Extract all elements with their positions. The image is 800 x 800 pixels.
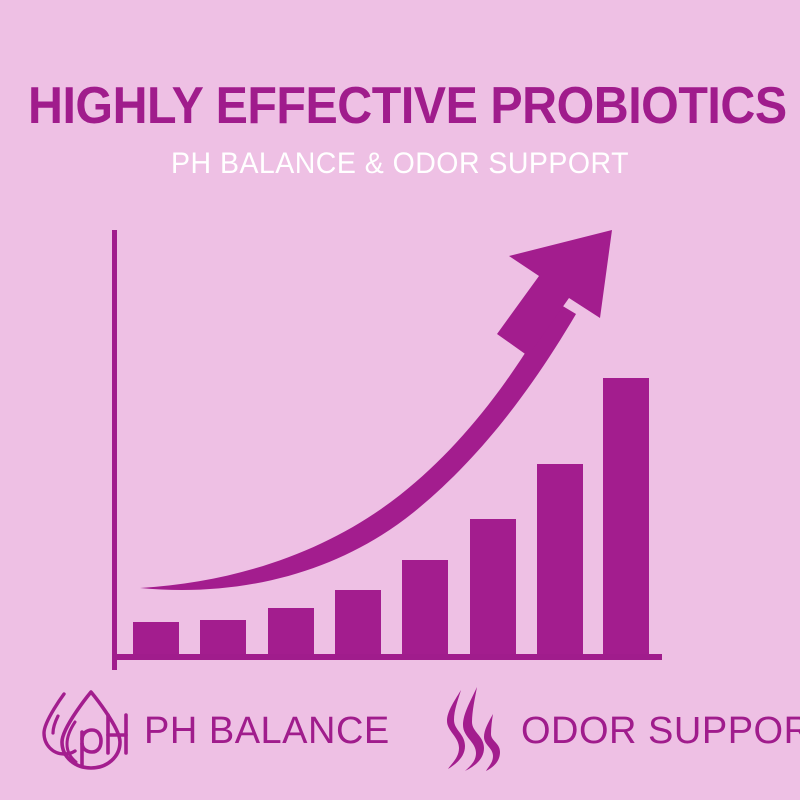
bar-7 <box>537 464 583 654</box>
feature-odor-support-label: ODOR SUPPORT <box>521 710 800 753</box>
bar-6 <box>470 519 516 654</box>
odor-waves-icon <box>443 687 505 776</box>
bar-1 <box>133 622 179 654</box>
probiotics-poster: HIGHLY EFFECTIVE PROBIOTICS PH BALANCE &… <box>0 0 800 800</box>
growth-bar-chart <box>0 210 800 680</box>
feature-ph-balance-label: PH BALANCE <box>144 710 390 753</box>
y-axis-line <box>112 230 117 670</box>
feature-ph-balance: PH BALANCE <box>38 686 390 776</box>
page-title: HIGHLY EFFECTIVE PROBIOTICS <box>28 78 772 134</box>
feature-odor-support: ODOR SUPPORT <box>443 686 800 776</box>
feature-row: PH BALANCE ODOR SUPPORT <box>0 686 800 786</box>
water-drop-ph-icon <box>38 688 130 775</box>
bar-8 <box>603 378 649 654</box>
page-subtitle: PH BALANCE & ODOR SUPPORT <box>20 147 780 181</box>
bar-4 <box>335 590 381 654</box>
chart-svg <box>0 210 800 680</box>
bar-3 <box>268 608 314 654</box>
bar-2 <box>200 620 246 654</box>
bar-5 <box>402 560 448 654</box>
x-axis-line <box>112 654 662 660</box>
